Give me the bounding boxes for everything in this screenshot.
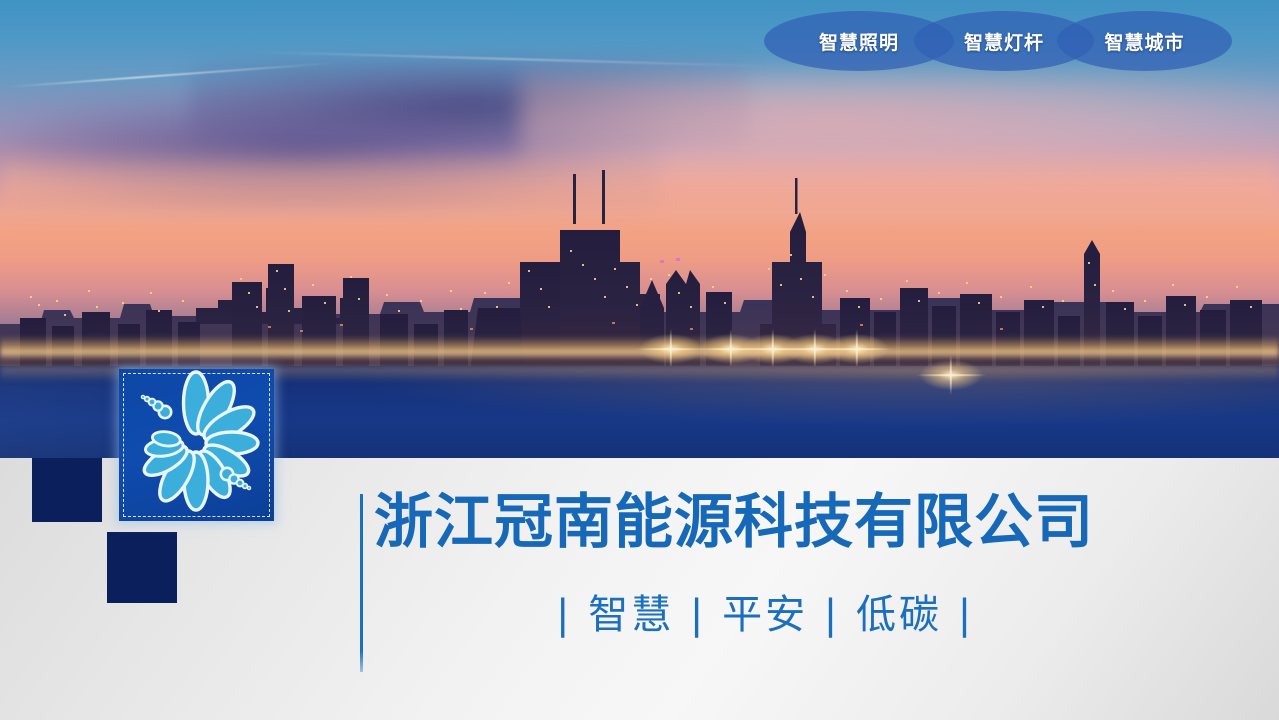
decorative-square-lower <box>107 532 177 603</box>
badge-smart-city[interactable]: 智慧城市 <box>1057 11 1232 71</box>
city-skyline-silhouette <box>0 112 1279 372</box>
company-tagline: | 智慧 | 平安 | 低碳 | <box>556 595 974 635</box>
logo-dashed-border <box>123 373 270 517</box>
company-logo <box>119 369 274 521</box>
water-light-starburst <box>920 360 982 390</box>
title-accent-line <box>360 494 363 672</box>
company-cover-slide: 智慧照明 智慧灯杆 智慧城市 浙江冠南能源科技有限公司 | 智慧 | 平安 | … <box>0 0 1279 720</box>
shoreline-starburst <box>826 334 888 364</box>
company-title: 浙江冠南能源科技有限公司 <box>374 492 1094 551</box>
shoreline-starburst <box>640 334 702 364</box>
decorative-square-upper <box>32 458 102 522</box>
topic-badge-group: 智慧照明 智慧灯杆 智慧城市 <box>764 11 1224 71</box>
